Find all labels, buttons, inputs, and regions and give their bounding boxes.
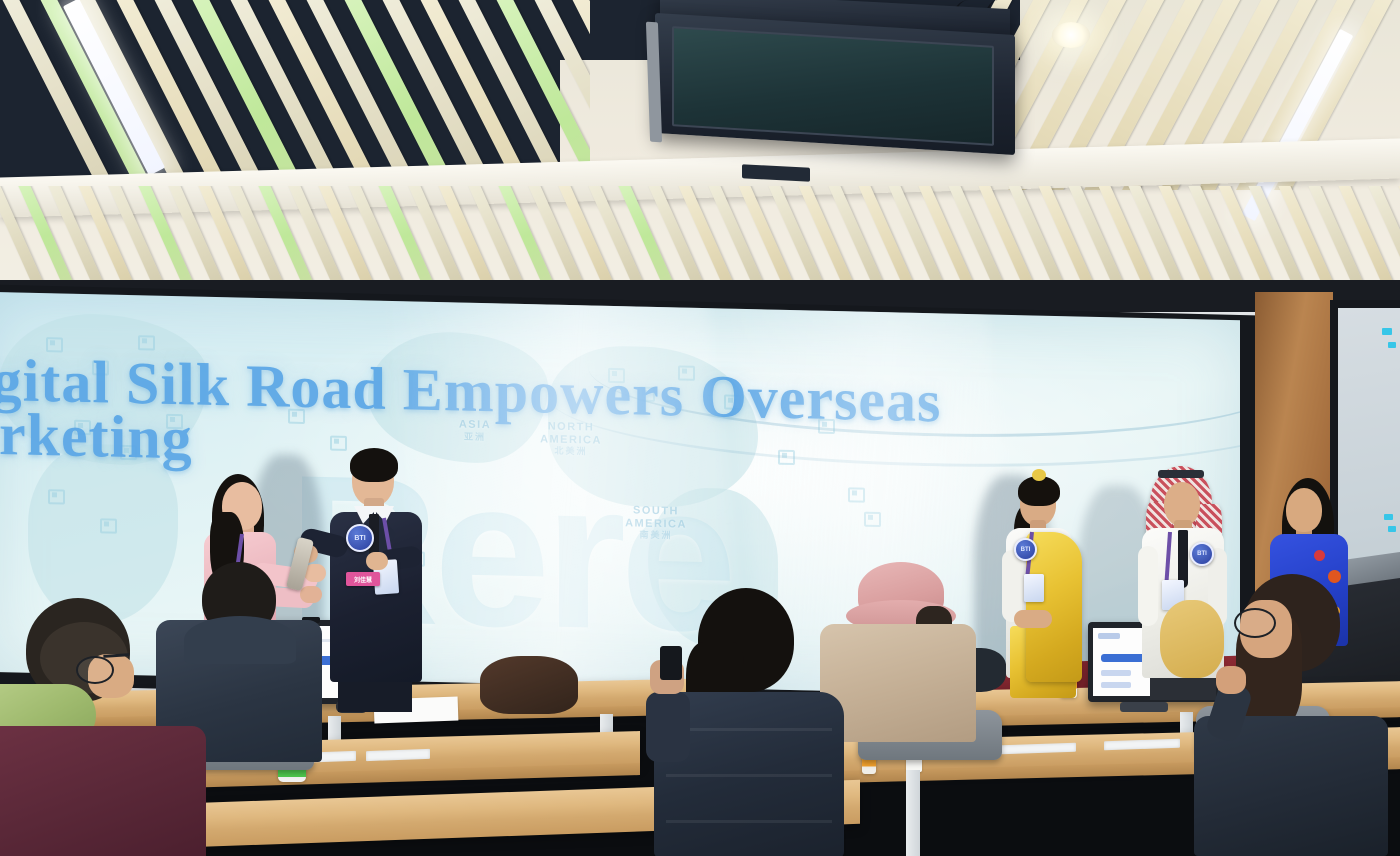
round-badge[interactable]: BTI xyxy=(346,524,374,552)
round-badge[interactable]: BTI xyxy=(1014,538,1037,561)
ceiling xyxy=(0,0,1400,300)
vest-seam-3 xyxy=(666,820,832,823)
hair xyxy=(480,656,578,714)
head xyxy=(1286,488,1322,532)
round-badge[interactable]: BTI xyxy=(1190,542,1214,566)
hand-on-chin xyxy=(1216,666,1246,694)
audience-green-scarf[interactable] xyxy=(0,598,240,856)
desk-leg-4 xyxy=(906,770,920,856)
slide-title-line-2: arketing xyxy=(0,403,193,469)
legs xyxy=(338,678,412,712)
keffiyeh-band xyxy=(1158,470,1204,478)
projector-lens-panel xyxy=(672,26,994,146)
glasses xyxy=(1234,608,1276,638)
hair xyxy=(350,448,398,482)
presenter-gold-dress[interactable]: BTI xyxy=(1000,476,1100,686)
arm-left xyxy=(1138,546,1158,626)
audience-glasses-right[interactable] xyxy=(1190,566,1390,856)
vest-seam-2 xyxy=(666,774,832,777)
audience-puffer-vest[interactable] xyxy=(650,588,850,856)
torso-maroon-sweater xyxy=(0,726,206,856)
vest-seam-1 xyxy=(666,728,832,731)
name-tag: 刘佳慧 xyxy=(346,572,380,586)
jacket-motif-1 xyxy=(1314,550,1325,561)
presenter-male-suit[interactable]: BTI 刘佳慧 xyxy=(328,448,438,698)
cable-right xyxy=(1120,702,1168,712)
presentation-scene: Rere ASIA 亚洲 NORTH AMERICA 北美洲 SOUTH AME… xyxy=(0,0,1400,856)
id-card xyxy=(1024,574,1044,602)
hands-clasped xyxy=(1014,610,1052,628)
hand-right xyxy=(366,552,388,570)
arm-raised xyxy=(646,692,690,762)
audience-head-mid-2 xyxy=(480,656,580,716)
glasses-temple xyxy=(103,653,130,676)
hair-ornament xyxy=(1032,469,1046,481)
smartphone[interactable] xyxy=(660,646,682,680)
ceiling-downlight xyxy=(1052,22,1090,48)
